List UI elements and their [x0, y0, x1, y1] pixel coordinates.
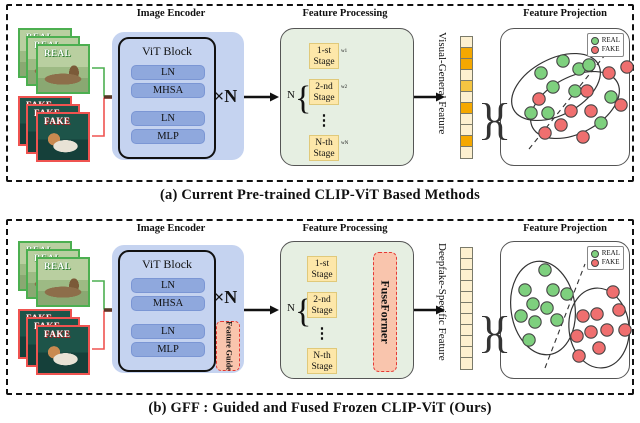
feature-vector-cell — [461, 347, 472, 358]
image-encoder-block: ViT Block LN MHSA LN MLP ×N Feature Guid… — [112, 245, 244, 373]
feature-vector — [460, 247, 473, 370]
scatter-point-real — [523, 334, 535, 346]
scatter-point-fake — [601, 324, 613, 336]
scatter-point-fake — [591, 308, 603, 320]
scatter-point-real — [557, 55, 569, 67]
scatter-point-fake — [573, 350, 585, 362]
scatter-point-real — [515, 310, 527, 322]
scatter-point-fake — [603, 67, 615, 79]
scatter-point-real — [529, 316, 541, 328]
legend-label-fake: FAKE — [602, 45, 620, 54]
scatter-point-real — [519, 284, 531, 296]
feature-vector-cell — [461, 136, 472, 147]
vit-block: ViT Block LN MHSA LN MLP — [118, 37, 216, 159]
scatter-point-real — [525, 107, 537, 119]
n-count-label: N — [287, 89, 295, 101]
feature-vector-cell — [461, 81, 472, 92]
scatter-point-real — [539, 264, 551, 276]
scatter-point-fake — [585, 105, 597, 117]
feature-vector-cell — [461, 92, 472, 103]
stage-n: N-th Stage — [307, 348, 337, 374]
scatter-point-fake — [607, 286, 619, 298]
feature-projection-plot: REAL FAKE — [500, 28, 630, 166]
scatter-point-fake — [571, 330, 583, 342]
repeat-n-label: ×N — [214, 86, 237, 107]
feature-projection-plot: REAL FAKE — [500, 241, 630, 379]
layer-ln-2: LN — [131, 111, 205, 126]
vit-block-label: ViT Block — [120, 44, 214, 59]
layer-ln-1: LN — [131, 65, 205, 80]
scatter-point-fake — [577, 310, 589, 322]
panel-gff-method: Image Encoder Feature Processing Feature… — [6, 219, 634, 395]
scatter-point-real — [595, 117, 607, 129]
legend-item-real: REAL — [591, 36, 620, 45]
feature-vector-cell — [461, 314, 472, 325]
scatter-point-fake — [539, 127, 551, 139]
feature-vector-cell — [461, 114, 472, 125]
feature-guide-module[interactable]: Feature Guide — [216, 321, 240, 371]
scatter-legend: REAL FAKE — [587, 33, 624, 57]
scatter-point-fake — [581, 85, 593, 97]
scatter-point-fake — [621, 61, 633, 73]
feature-vector-cell — [461, 248, 472, 259]
stage-ellipsis: ⋮ — [309, 119, 339, 124]
feature-vector-cell — [461, 358, 472, 369]
feature-vector-cell — [461, 281, 472, 292]
feature-vector-label: Deepfake-Specific Feature — [436, 243, 448, 361]
feature-vector-cell — [461, 125, 472, 136]
scatter-point-real — [547, 284, 559, 296]
stage-1: 1-st Stage — [307, 256, 337, 282]
scatter-point-fake — [565, 105, 577, 117]
feature-vector-cell — [461, 103, 472, 114]
fuseformer-label: FuseFormer — [378, 280, 393, 343]
feature-vector-cell — [461, 270, 472, 281]
layer-mlp: MLP — [131, 342, 205, 357]
scatter-point-fake — [555, 119, 567, 131]
stage-n: N-th Stage — [309, 135, 339, 161]
n-count-label: N — [287, 302, 295, 314]
scatter-point-real — [551, 314, 563, 326]
panel-current-methods: Image Encoder Feature Processing Feature… — [6, 4, 634, 182]
scatter-point-real — [527, 298, 539, 310]
vit-block-label: ViT Block — [120, 257, 214, 272]
stage-1: 1-st Stage — [309, 43, 339, 69]
scatter-point-fake — [615, 99, 627, 111]
legend-label-fake: FAKE — [602, 258, 620, 267]
feature-vector-cell — [461, 336, 472, 347]
repeat-n-label: ×N — [214, 287, 237, 308]
panel-a-caption: (a) Current Pre-trained CLIP-ViT Based M… — [0, 187, 640, 204]
feature-vector-cell — [461, 48, 472, 59]
legend-item-fake: FAKE — [591, 45, 620, 54]
feature-vector-cell — [461, 70, 472, 81]
scatter-point-fake — [593, 342, 605, 354]
scatter-point-real — [547, 81, 559, 93]
stage-2: 2-nd Stage — [309, 79, 339, 105]
legend-item-fake: FAKE — [591, 258, 620, 267]
vit-block: ViT Block LN MHSA LN MLP — [118, 250, 216, 372]
feature-vector-cell — [461, 59, 472, 70]
scatter-point-real — [569, 85, 581, 97]
feature-vector-cell — [461, 303, 472, 314]
weight-wn: wN — [341, 141, 348, 146]
legend-item-real: REAL — [591, 249, 620, 258]
scatter-point-real — [561, 288, 573, 300]
feature-vector-label: Visual-General Feature — [436, 32, 448, 134]
scatter-legend: REAL FAKE — [587, 246, 624, 270]
layer-mlp: MLP — [131, 129, 205, 144]
fuseformer-module[interactable]: FuseFormer — [373, 252, 397, 372]
layer-mhsa: MHSA — [131, 296, 205, 311]
feature-vector-cell — [461, 37, 472, 48]
scatter-point-fake — [577, 131, 589, 143]
scatter-point-real — [541, 302, 553, 314]
layer-mhsa: MHSA — [131, 83, 205, 98]
feature-vector — [460, 36, 473, 159]
legend-label-real: REAL — [602, 36, 620, 45]
feature-vector-cell — [461, 259, 472, 270]
weight-w1: w1 — [341, 49, 347, 54]
scatter-point-real — [583, 59, 595, 71]
feature-processing-block: N { 1-st Stage 2-nd Stage ⋮ N-th Stage F… — [280, 241, 414, 379]
panel-b-caption: (b) GFF : Guided and Fused Frozen CLIP-V… — [0, 400, 640, 417]
scatter-point-real — [535, 67, 547, 79]
weight-w2: w2 — [341, 85, 347, 90]
image-encoder-block: ViT Block LN MHSA LN MLP ×N — [112, 32, 244, 160]
scatter-point-fake — [613, 304, 625, 316]
feature-guide-label: Feature Guide — [224, 321, 233, 370]
layer-ln-1: LN — [131, 278, 205, 293]
stage-ellipsis: ⋮ — [307, 332, 337, 337]
scatter-point-fake — [533, 93, 545, 105]
feature-vector-cell — [461, 147, 472, 158]
stage-2: 2-nd Stage — [307, 292, 337, 318]
scatter-point-real — [542, 107, 554, 119]
layer-ln-2: LN — [131, 324, 205, 339]
scatter-point-fake — [619, 324, 631, 336]
legend-label-real: REAL — [602, 249, 620, 258]
feature-vector-cell — [461, 325, 472, 336]
scatter-point-fake — [585, 326, 597, 338]
feature-processing-block: N { 1-st Stage 2-nd Stage ⋮ N-th Stage w… — [280, 28, 414, 166]
feature-vector-cell — [461, 292, 472, 303]
